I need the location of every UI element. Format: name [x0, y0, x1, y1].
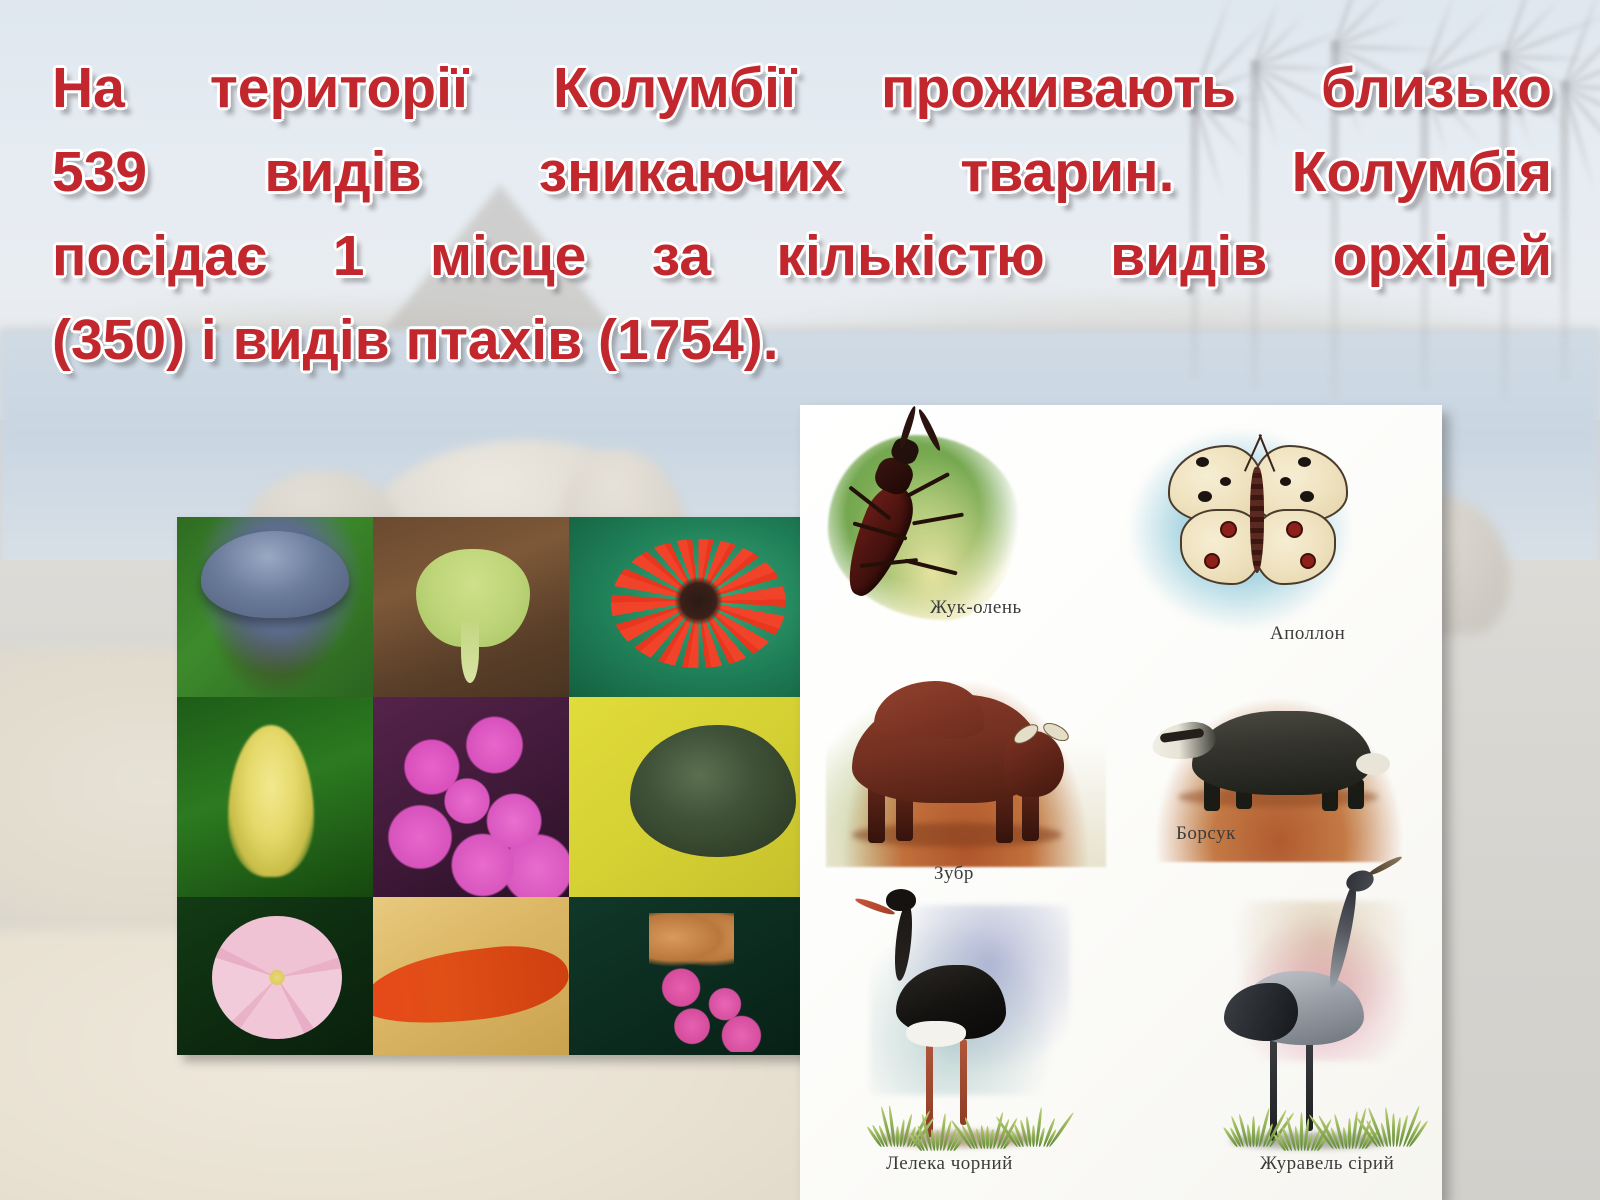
collage-cell-turtle: [177, 517, 373, 697]
title-line-3: посідає 1 місце за кількістю видів орхід…: [52, 214, 1552, 298]
figure-label-grey-crane: Журавель сірий: [1260, 1153, 1394, 1175]
figure-label-badger: Борсук: [1176, 823, 1236, 845]
page-title: На території Колумбії проживають близько…: [52, 46, 1552, 382]
collage-cell-yellow-orchid: [177, 697, 373, 897]
collage-cell-luna-moth: [373, 517, 569, 697]
figure-label-stag-beetle: Жук-олень: [930, 597, 1022, 619]
collage-cell-butterfly: [569, 897, 805, 1055]
figure-label-european-bison: Зубр: [934, 863, 974, 885]
title-line-1: На території Колумбії проживають близько: [52, 46, 1552, 130]
title-line-2: 539 видів зникаючих тварин. Колумбія: [52, 130, 1552, 214]
figure-label-apollo-butterfly: Аполлон: [1270, 623, 1345, 645]
collage-cell-red-flower: [569, 517, 805, 697]
collage-cell-green-frog: [569, 697, 805, 897]
collage-cell-pink-phlox: [373, 697, 569, 897]
title-line-4: (350) і видів птахів (1754).: [52, 298, 1552, 382]
presentation-slide: На території Колумбії проживають близько…: [0, 0, 1600, 1200]
figure-label-black-stork: Лелека чорний: [886, 1153, 1013, 1175]
endangered-species-photo-collage: [177, 517, 805, 1055]
collage-cell-orange-salamander: [373, 897, 569, 1055]
collage-cell-pink-rose: [177, 897, 373, 1055]
red-book-animals-illustration-plate: Жук-олень Аполлон: [800, 405, 1442, 1200]
